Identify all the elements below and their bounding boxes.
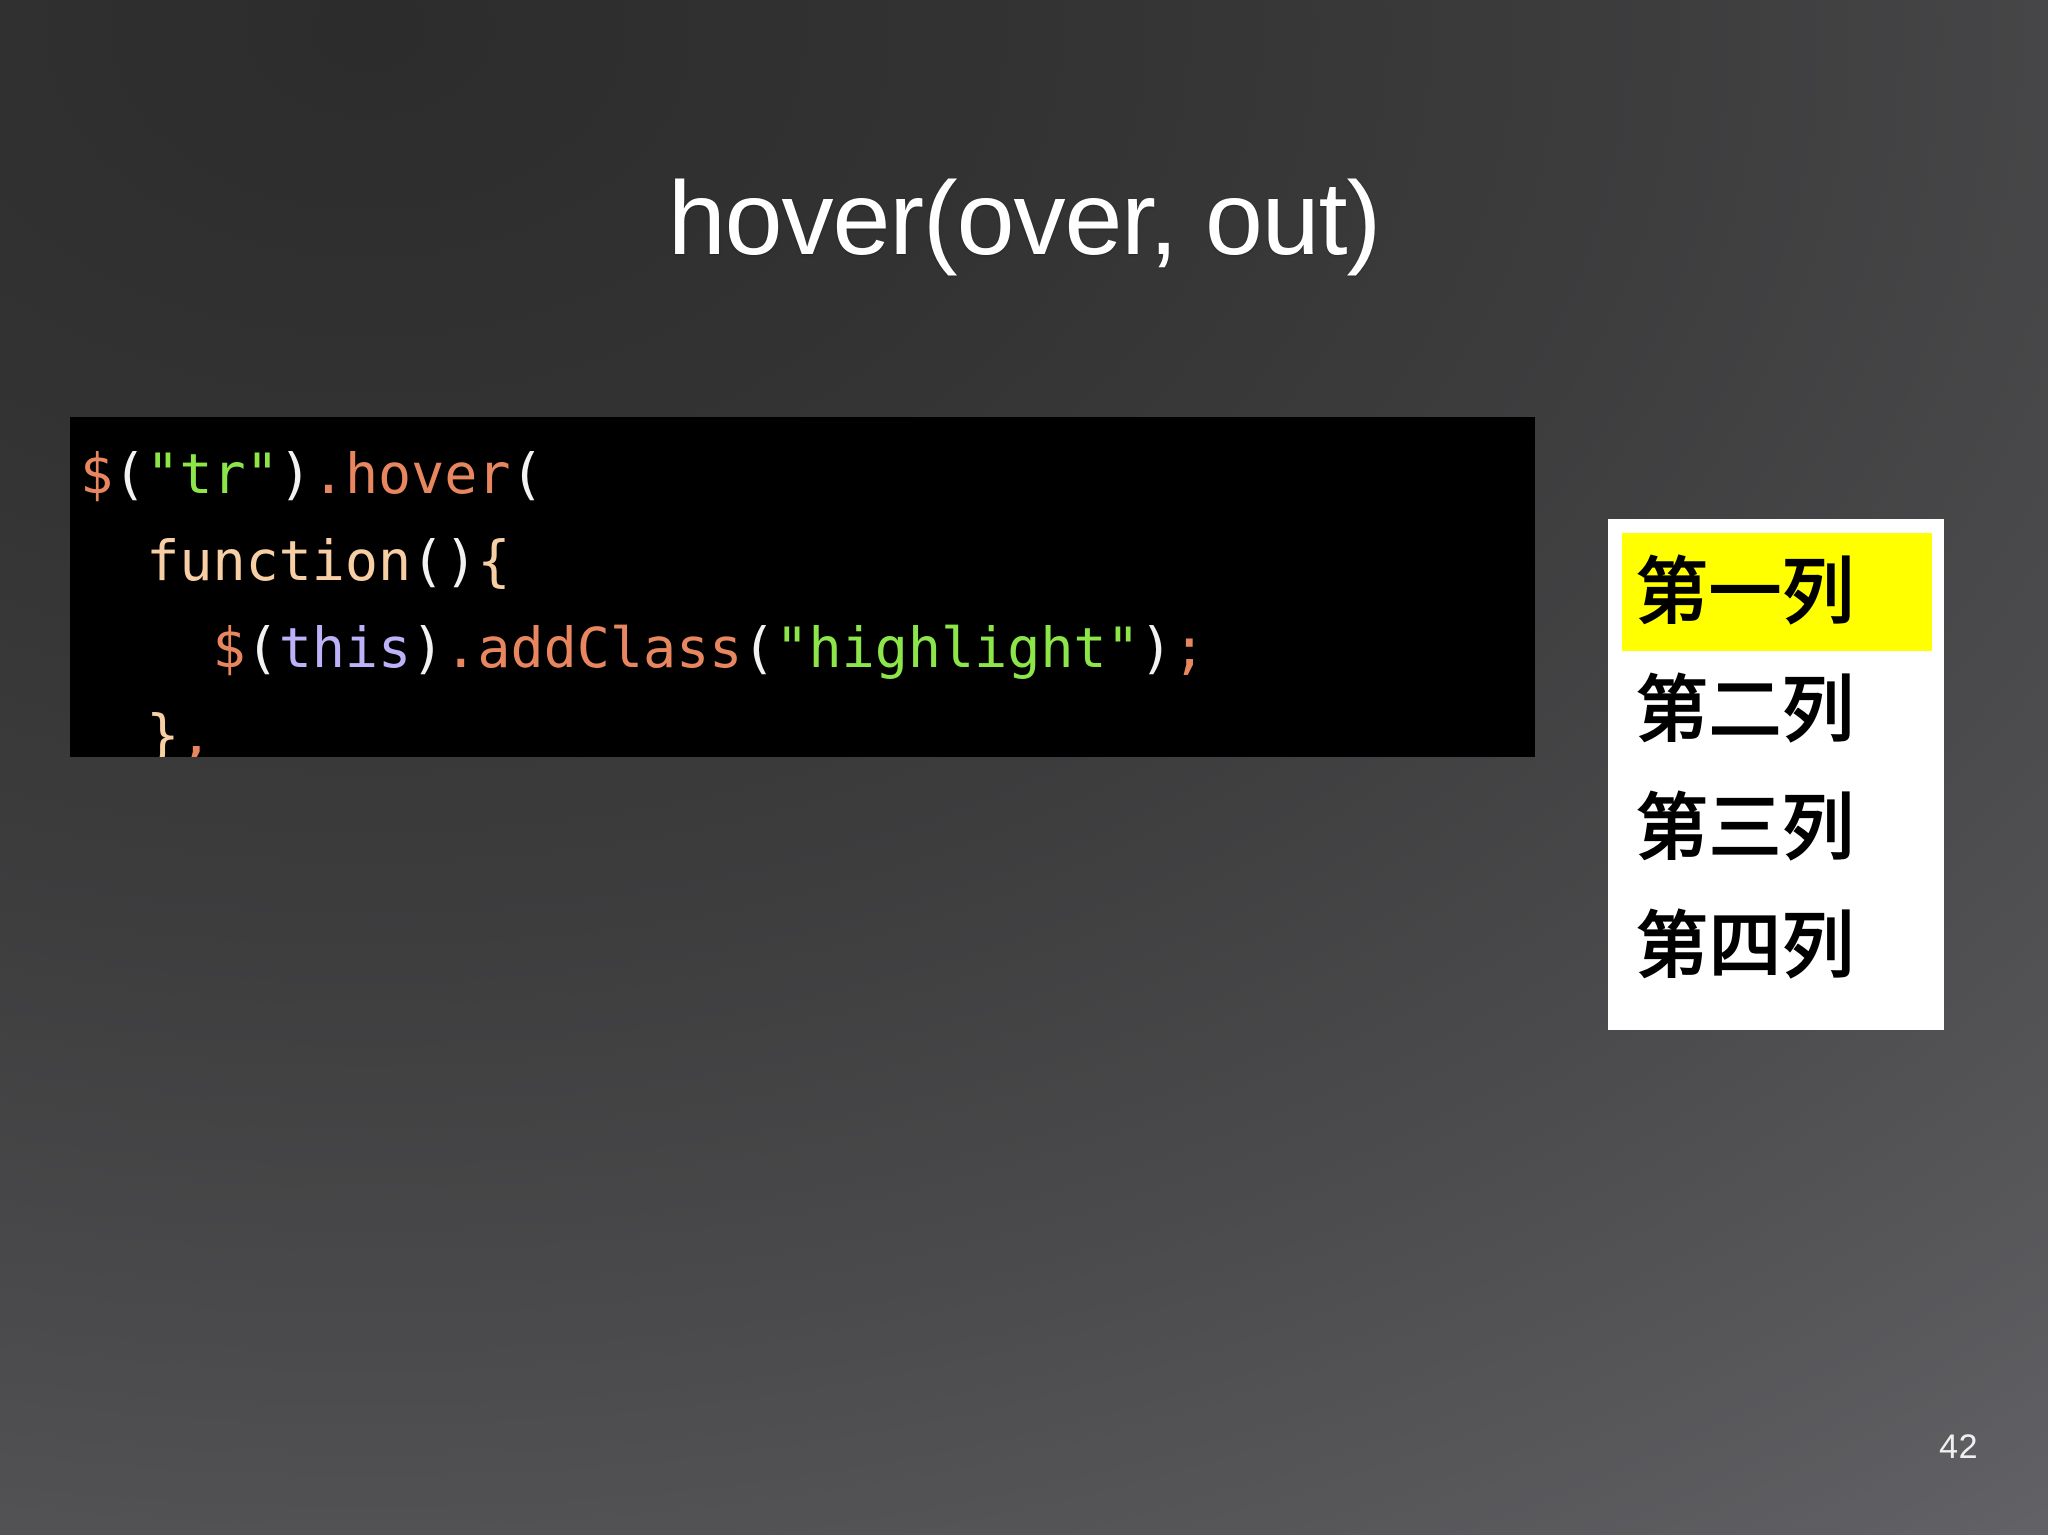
code-token-dollar: $ <box>212 616 245 680</box>
code-token-paren-open-2: ( <box>742 616 775 680</box>
table-row[interactable]: 第一列 <box>1622 533 1932 651</box>
code-token-paren-open: ( <box>246 616 279 680</box>
code-token-selector-string: "tr" <box>146 442 278 506</box>
code-listing: $("tr").hover( function(){ $(this).addCl… <box>80 431 1535 757</box>
code-token-method-addclass: .addClass <box>444 616 742 680</box>
table-row[interactable]: 第三列 <box>1622 769 1932 887</box>
code-indent <box>80 616 212 680</box>
code-token-semicolon: ; <box>1173 616 1206 680</box>
code-token-paren-close: ) <box>279 442 312 506</box>
code-token-dollar: $ <box>80 442 113 506</box>
code-line-1: $("tr").hover( <box>80 431 1535 518</box>
page-title: hover(over, out) <box>0 162 2048 276</box>
code-line-3: $(this).addClass("highlight"); <box>80 605 1535 692</box>
code-token-brace-close: } <box>146 703 179 757</box>
demo-table: 第一列 第二列 第三列 第四列 <box>1608 519 1944 1030</box>
code-token-function-keyword: function <box>146 529 411 593</box>
code-token-brace-open: { <box>477 529 510 593</box>
code-indent <box>80 703 146 757</box>
code-token-highlight-string: "highlight" <box>775 616 1139 680</box>
code-indent <box>80 529 146 593</box>
code-token-empty-parens: () <box>411 529 477 593</box>
code-line-2: function(){ <box>80 518 1535 605</box>
code-token-paren-close-2: ) <box>1140 616 1173 680</box>
code-token-this: this <box>279 616 411 680</box>
code-line-4: }, <box>80 692 1535 757</box>
code-token-method-hover: .hover <box>312 442 511 506</box>
code-token-comma: , <box>179 703 212 757</box>
table-row[interactable]: 第二列 <box>1622 651 1932 769</box>
code-block: $("tr").hover( function(){ $(this).addCl… <box>70 417 1535 757</box>
code-token-paren-open-2: ( <box>511 442 544 506</box>
code-token-paren-open: ( <box>113 442 146 506</box>
slide-canvas: hover(over, out) $("tr").hover( function… <box>0 0 2048 1535</box>
table-row[interactable]: 第四列 <box>1622 887 1932 1005</box>
code-token-paren-close: ) <box>411 616 444 680</box>
page-number: 42 <box>1939 1428 1978 1467</box>
